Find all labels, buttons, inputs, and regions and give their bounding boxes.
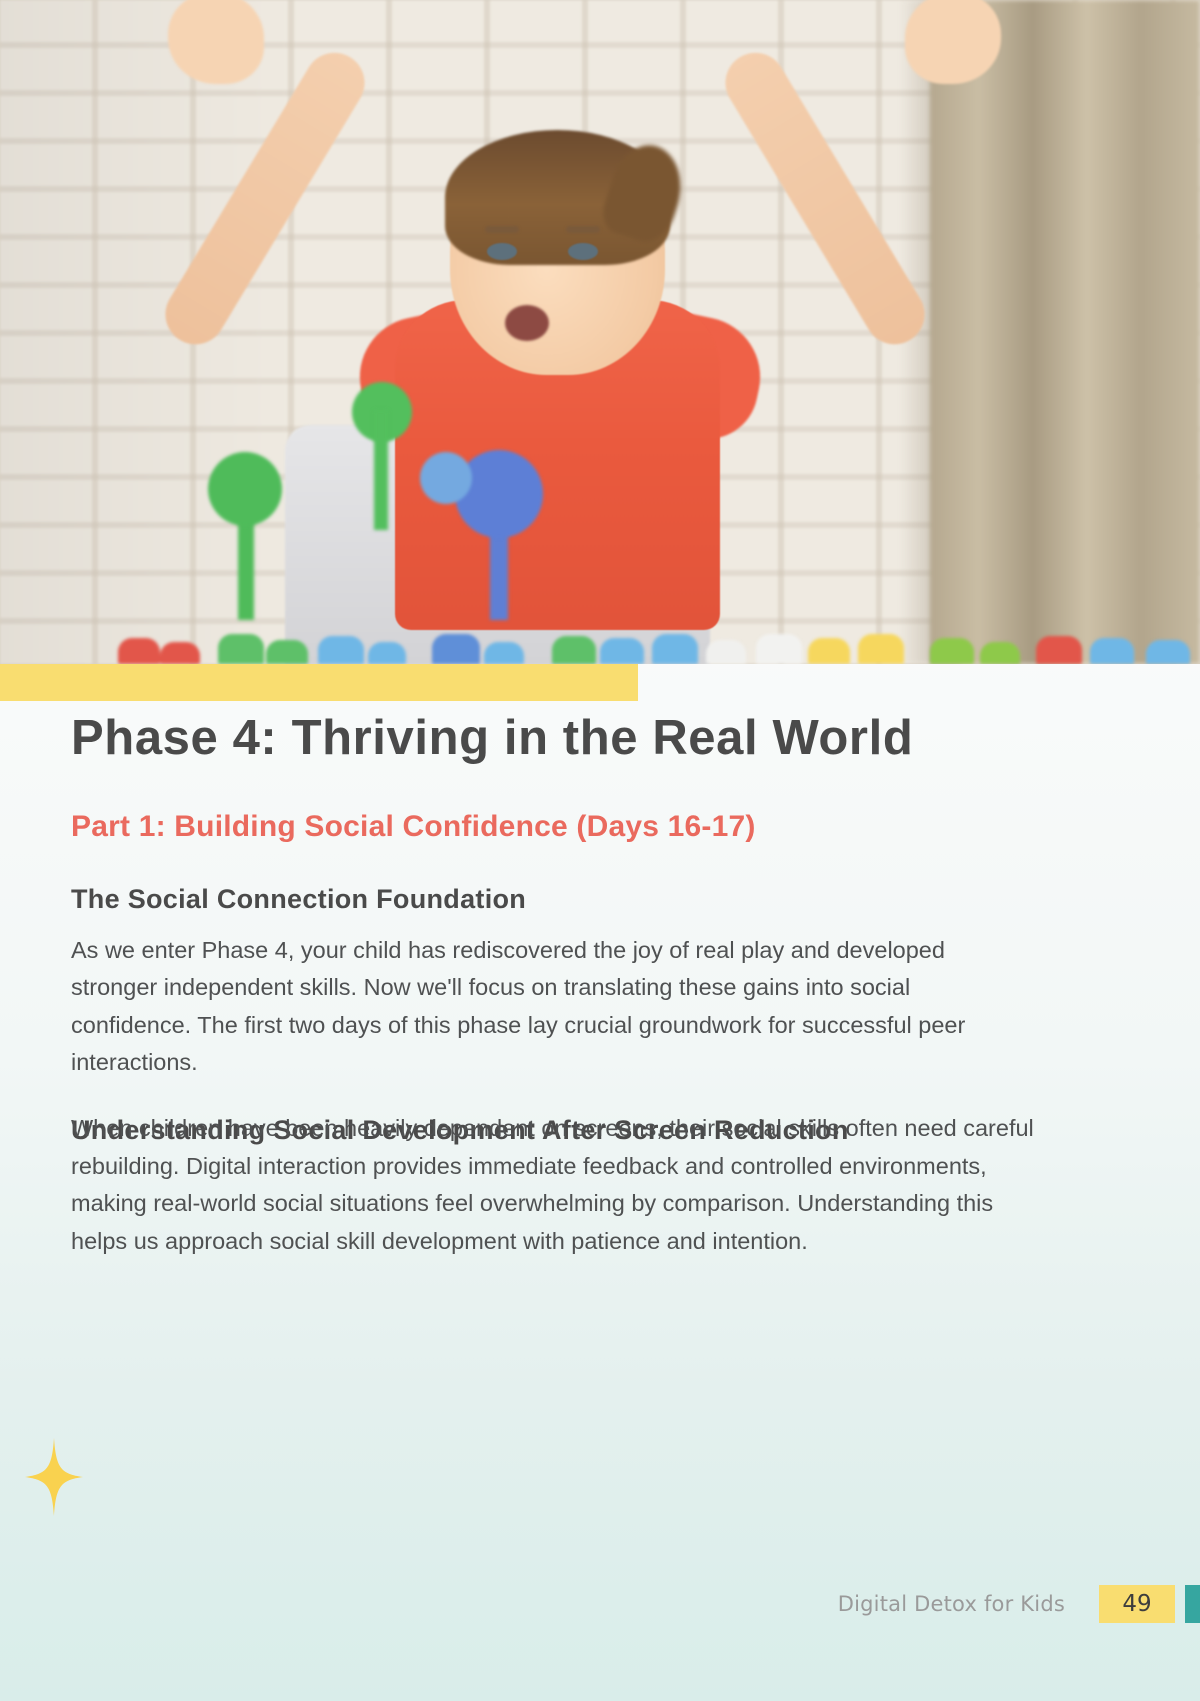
part-heading: Part 1: Building Social Confidence (Days… xyxy=(71,769,1071,845)
child-right-eye xyxy=(568,243,598,260)
toy-flower-blue xyxy=(455,450,543,538)
page-number-badge: 49 xyxy=(1099,1585,1175,1623)
document-page: Phase 4: Thriving in the Real World Part… xyxy=(0,0,1200,1701)
child-left-eye xyxy=(487,243,517,260)
child-left-eyebrow xyxy=(485,226,519,233)
section-body-social-connection-foundation: As we enter Phase 4, your child has redi… xyxy=(71,916,1031,1082)
section-body-understanding-social-development: When children have been heavily dependen… xyxy=(71,1110,1041,1260)
toy-stem-green-2 xyxy=(374,410,388,530)
page-content: Phase 4: Thriving in the Real World Part… xyxy=(71,701,1071,1260)
toy-flower-blue-small xyxy=(420,452,472,504)
page-title: Phase 4: Thriving in the Real World xyxy=(71,701,941,769)
teal-edge-tab xyxy=(1185,1585,1200,1623)
child-mouth xyxy=(505,305,549,341)
four-point-star-icon xyxy=(25,1438,83,1516)
footer-document-title: Digital Detox for Kids xyxy=(838,1592,1065,1616)
yellow-accent-bar xyxy=(0,664,638,701)
child-right-eyebrow xyxy=(566,226,600,233)
toy-row xyxy=(0,602,1200,664)
page-footer: Digital Detox for Kids 49 xyxy=(0,1578,1200,1630)
section-heading-social-connection-foundation: The Social Connection Foundation xyxy=(71,845,1071,916)
curtain xyxy=(930,0,1200,664)
child-left-hand xyxy=(168,0,264,84)
toy-flower-green xyxy=(208,452,282,526)
hero-photo xyxy=(0,0,1200,664)
